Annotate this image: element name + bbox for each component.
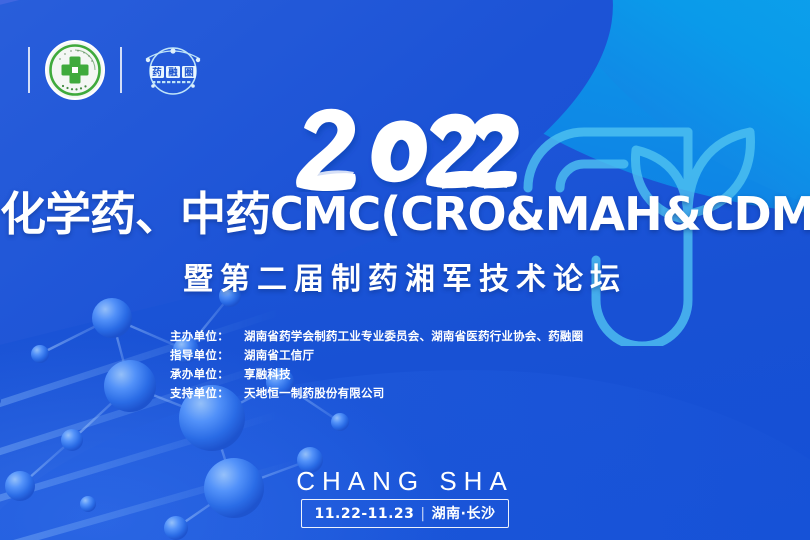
logo-divider-left: [28, 47, 30, 93]
location-cn: 湖南·长沙: [432, 506, 496, 522]
logo-divider-middle: [120, 47, 122, 93]
logo-hunan-pharmaceutical-association: [44, 39, 106, 101]
date-location-box: 11.22-11.23|湖南·长沙: [0, 499, 810, 528]
organizer-value: 湖南省药学会制药工业专业委员会、湖南省医药行业协会、药融圈: [244, 327, 640, 346]
organizer-row: 支持单位： 天地恒一制药股份有限公司: [170, 384, 640, 403]
conference-banner: 药 融 圈: [0, 0, 810, 540]
organizer-label: 指导单位：: [170, 346, 244, 365]
organizer-label: 支持单位：: [170, 384, 244, 403]
organizer-value: 湖南省工信厅: [244, 346, 640, 365]
page-title: 化学药、中药CMC(CRO&MAH&CDMO)产业合作大会: [0, 186, 810, 242]
logo-bar: 药 融 圈: [14, 40, 210, 100]
organizer-label: 主办单位：: [170, 327, 244, 346]
organizer-row: 承办单位： 享融科技: [170, 365, 640, 384]
organizer-label: 承办单位：: [170, 365, 244, 384]
svg-text:药: 药: [152, 67, 162, 79]
date-separator: |: [420, 506, 425, 522]
organizer-row: 主办单位： 湖南省药学会制药工业专业委员会、湖南省医药行业协会、药融圈: [170, 327, 640, 346]
organizer-row: 指导单位： 湖南省工信厅: [170, 346, 640, 365]
yaorongquan-icon: 药 融 圈: [136, 41, 210, 99]
svg-text:融: 融: [168, 67, 178, 79]
svg-text:圈: 圈: [184, 68, 194, 79]
page-subtitle: 暨第二届制药湘军技术论坛: [0, 260, 810, 300]
organizer-value: 享融科技: [244, 365, 640, 384]
date-location-inner: 11.22-11.23|湖南·长沙: [301, 499, 510, 528]
logo-yaorongquan: 药 融 圈: [136, 41, 210, 99]
organizer-list: 主办单位： 湖南省药学会制药工业专业委员会、湖南省医药行业协会、药融圈 指导单位…: [0, 327, 810, 403]
city-name-english: CHANG SHA: [0, 466, 810, 497]
year-glyph: [290, 104, 520, 192]
association-seal-icon: [44, 39, 106, 101]
organizer-value: 天地恒一制药股份有限公司: [244, 384, 640, 403]
year-2022-brush: [0, 104, 810, 192]
date-range: 11.22-11.23: [315, 506, 415, 522]
